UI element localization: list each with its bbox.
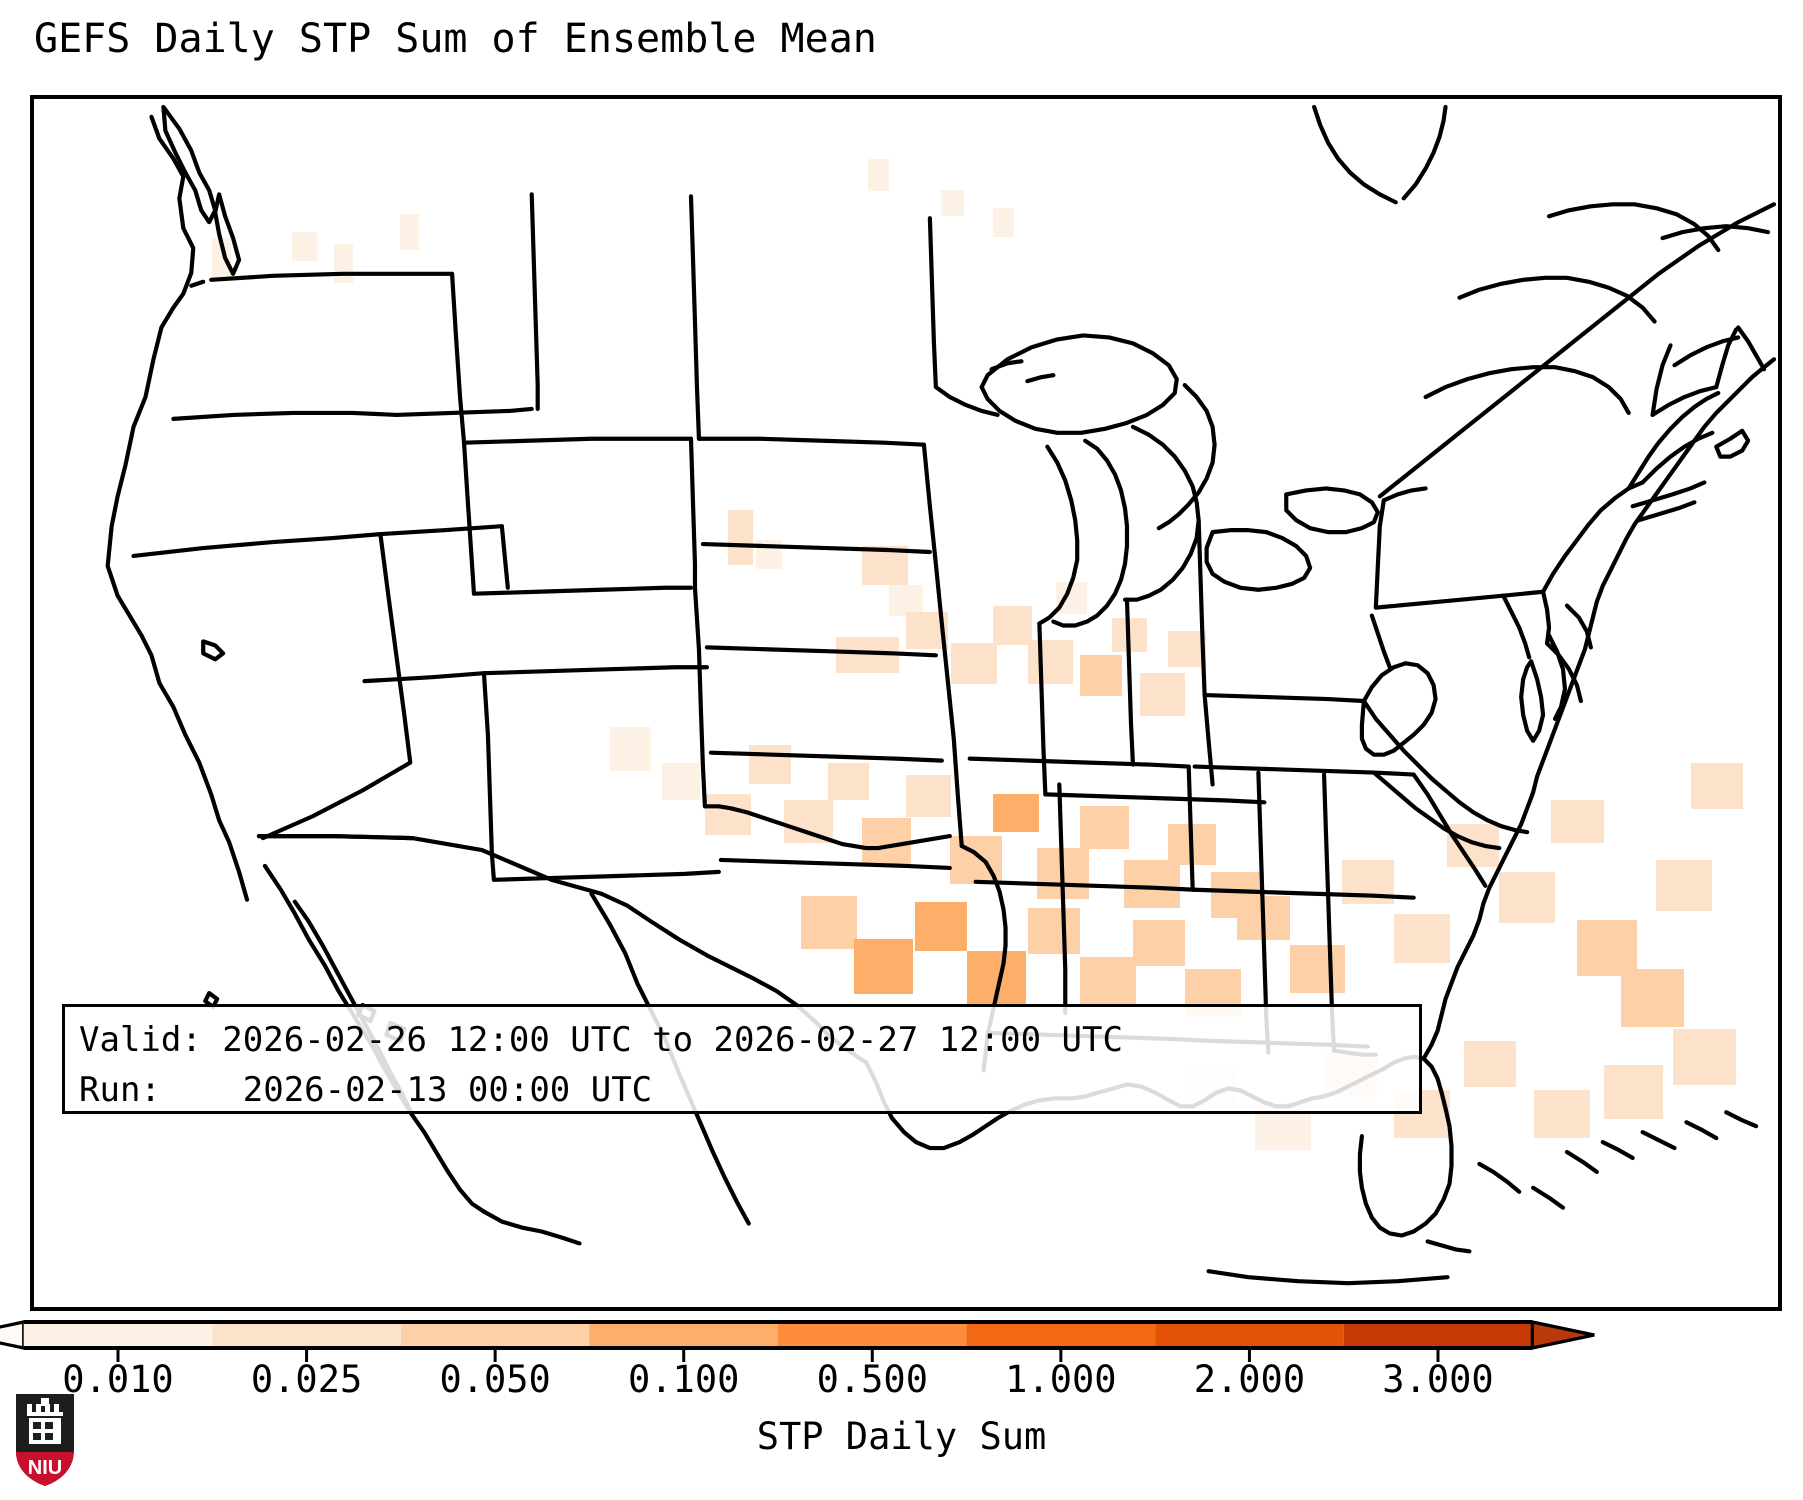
colorbar-tick-label: 0.050	[439, 1358, 550, 1401]
colorbar-segment	[1344, 1322, 1533, 1348]
colorbar-segment	[589, 1322, 778, 1348]
basemap-svg	[34, 99, 1778, 1307]
figure-root: GEFS Daily STP Sum of Ensemble Mean	[0, 0, 1803, 1500]
colorbar[interactable]: 0.0100.0250.0500.1000.5001.0002.0003.000	[0, 1310, 1803, 1390]
map-panel[interactable]: Valid: 2026-02-26 12:00 UTC to 2026-02-2…	[30, 95, 1782, 1311]
colorbar-tick-label: 0.010	[62, 1358, 173, 1401]
niu-logo: NIU	[14, 1392, 76, 1488]
colorbar-axis-label: STP Daily Sum	[0, 1415, 1803, 1458]
colorbar-tick-labels: 0.0100.0250.0500.1000.5001.0002.0003.000	[0, 1358, 1803, 1408]
colorbar-tick-label: 3.000	[1382, 1358, 1493, 1401]
colorbar-tick-label: 2.000	[1194, 1358, 1305, 1401]
colorbar-segment	[401, 1322, 590, 1348]
colorbar-segment	[967, 1322, 1156, 1348]
colorbar-segment	[1155, 1322, 1344, 1348]
colorbar-segment	[778, 1322, 967, 1348]
colorbar-tick-label: 0.025	[251, 1358, 362, 1401]
niu-logo-text: NIU	[28, 1457, 62, 1479]
colorbar-segments	[0, 1322, 1594, 1348]
run-time-line: Run: 2026-02-13 00:00 UTC	[79, 1065, 1405, 1115]
valid-time-line: Valid: 2026-02-26 12:00 UTC to 2026-02-2…	[79, 1015, 1405, 1065]
colorbar-segment	[24, 1322, 213, 1348]
colorbar-segment	[212, 1322, 401, 1348]
page-title: GEFS Daily STP Sum of Ensemble Mean	[34, 16, 877, 62]
colorbar-tick-label: 0.500	[817, 1358, 928, 1401]
colorbar-tick-label: 1.000	[1005, 1358, 1116, 1401]
valid-run-infobox: Valid: 2026-02-26 12:00 UTC to 2026-02-2…	[62, 1004, 1422, 1114]
colorbar-extend-high	[1532, 1322, 1594, 1348]
colorbar-tick-label: 0.100	[628, 1358, 739, 1401]
colorbar-extend-low	[0, 1322, 24, 1348]
